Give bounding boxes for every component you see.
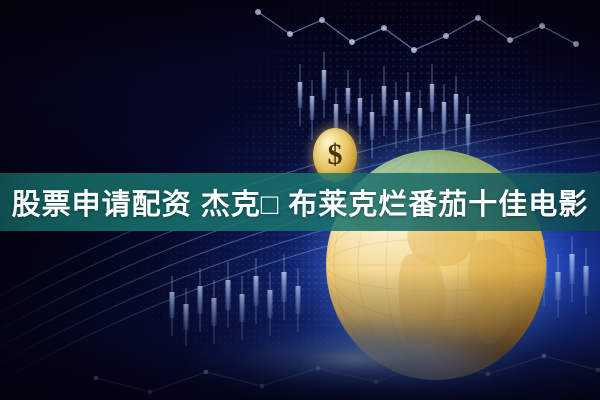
dollar-sign-icon: $: [328, 140, 343, 170]
headline-text: 股票申请配资 杰克□ 布莱克烂番茄十佳电影: [12, 181, 589, 223]
node-line-top: [258, 12, 576, 50]
headline-banner: 股票申请配资 杰克□ 布莱克烂番茄十佳电影: [0, 173, 600, 231]
image-canvas: $ 股票申请配资 杰克□ 布莱克烂番茄十佳电影: [0, 0, 600, 400]
background-bottom-shadow: [0, 270, 600, 400]
